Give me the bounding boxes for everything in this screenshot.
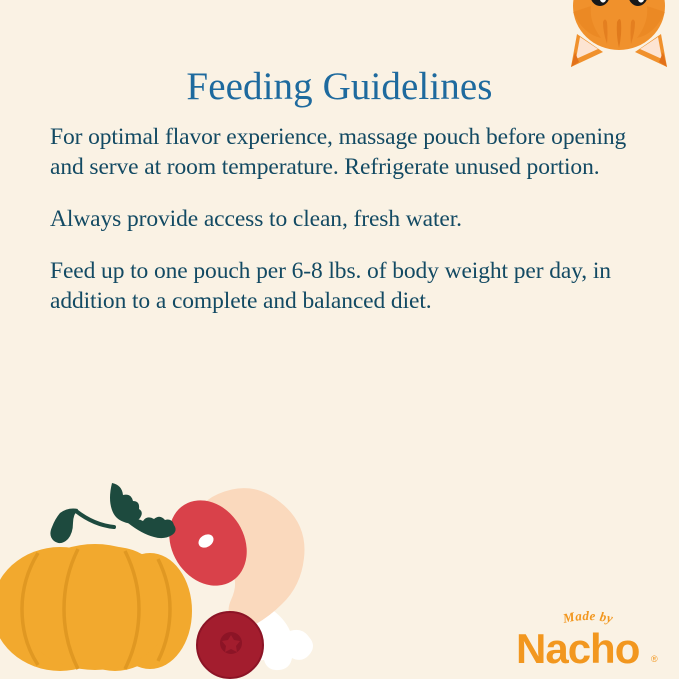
logo-trademark-symbol: ® xyxy=(651,654,658,664)
pumpkin-icon xyxy=(0,483,192,671)
logo-wordmark-text: Nacho xyxy=(516,625,640,667)
made-by-nacho-logo: Made by Nacho ® xyxy=(513,605,663,667)
logo-prefix-text: Made by xyxy=(561,608,615,626)
page-title: Feeding Guidelines xyxy=(0,66,679,109)
feeding-instructions: For optimal flavor experience, massage p… xyxy=(50,122,640,316)
food-illustration xyxy=(0,479,345,679)
cat-face-upside-down-icon xyxy=(567,0,671,68)
cranberry-icon xyxy=(197,612,263,678)
instruction-paragraph: Always provide access to clean, fresh wa… xyxy=(50,204,640,234)
instruction-paragraph: For optimal flavor experience, massage p… xyxy=(50,122,640,182)
turkey-drumstick-icon xyxy=(154,486,313,670)
feeding-guidelines-panel: Feeding Guidelines For optimal flavor ex… xyxy=(0,0,679,679)
svg-text:Made by: Made by xyxy=(561,608,615,626)
instruction-paragraph: Feed up to one pouch per 6-8 lbs. of bod… xyxy=(50,256,640,316)
